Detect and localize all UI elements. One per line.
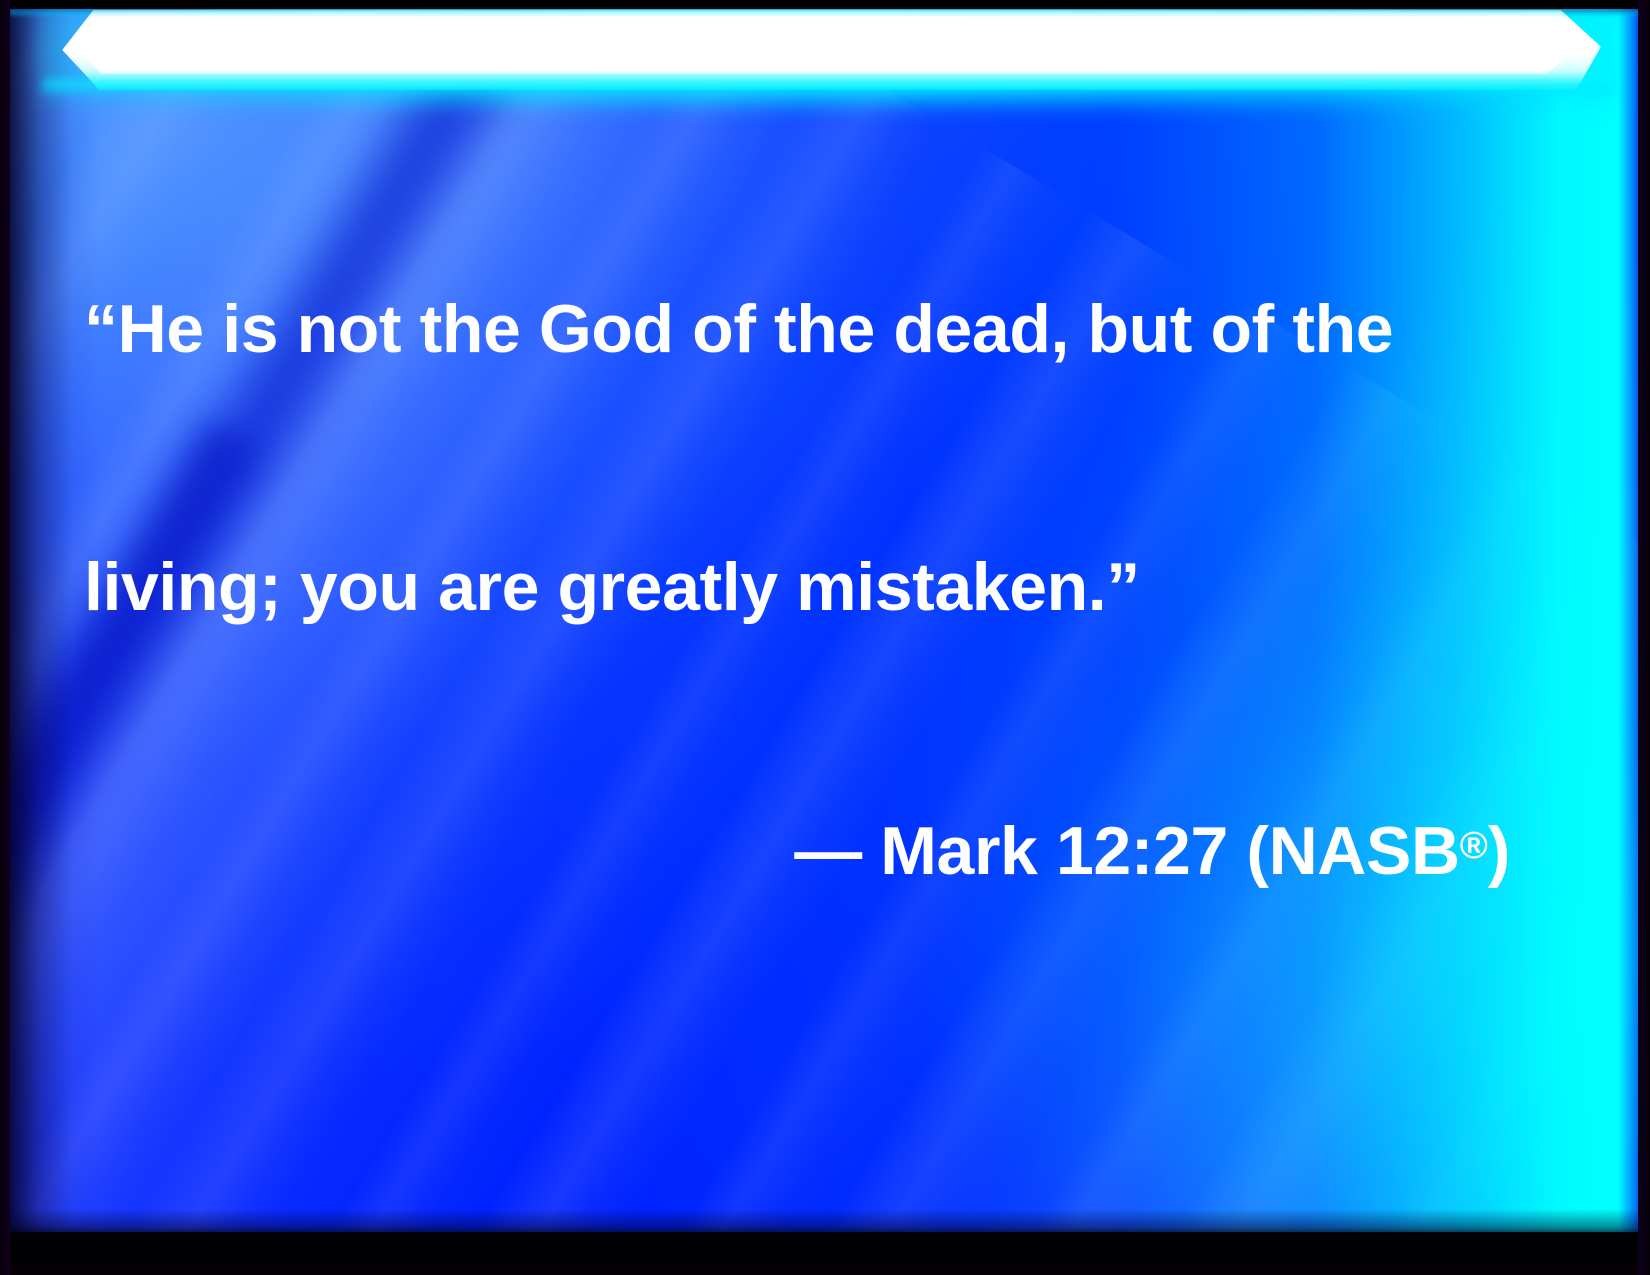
verse-slide: “He is not the God of the dead, but of t… [0,0,1650,1275]
verse-line-1: “He is not the God of the dead, but of t… [84,286,1514,372]
frame-border-bottom [0,1232,1650,1275]
registered-trademark-icon: ® [1460,825,1488,867]
attribution-reference: — Mark 12:27 (NASB [794,813,1459,889]
verse-line-2: living; you are greatly mistaken.” [84,544,1514,630]
attribution-close-paren: ) [1488,813,1510,889]
verse-attribution: — Mark 12:27 (NASB®) [84,803,1514,894]
background-bottom-vignette [9,1209,1641,1235]
verse-text-block: “He is not the God of the dead, but of t… [84,114,1514,1066]
